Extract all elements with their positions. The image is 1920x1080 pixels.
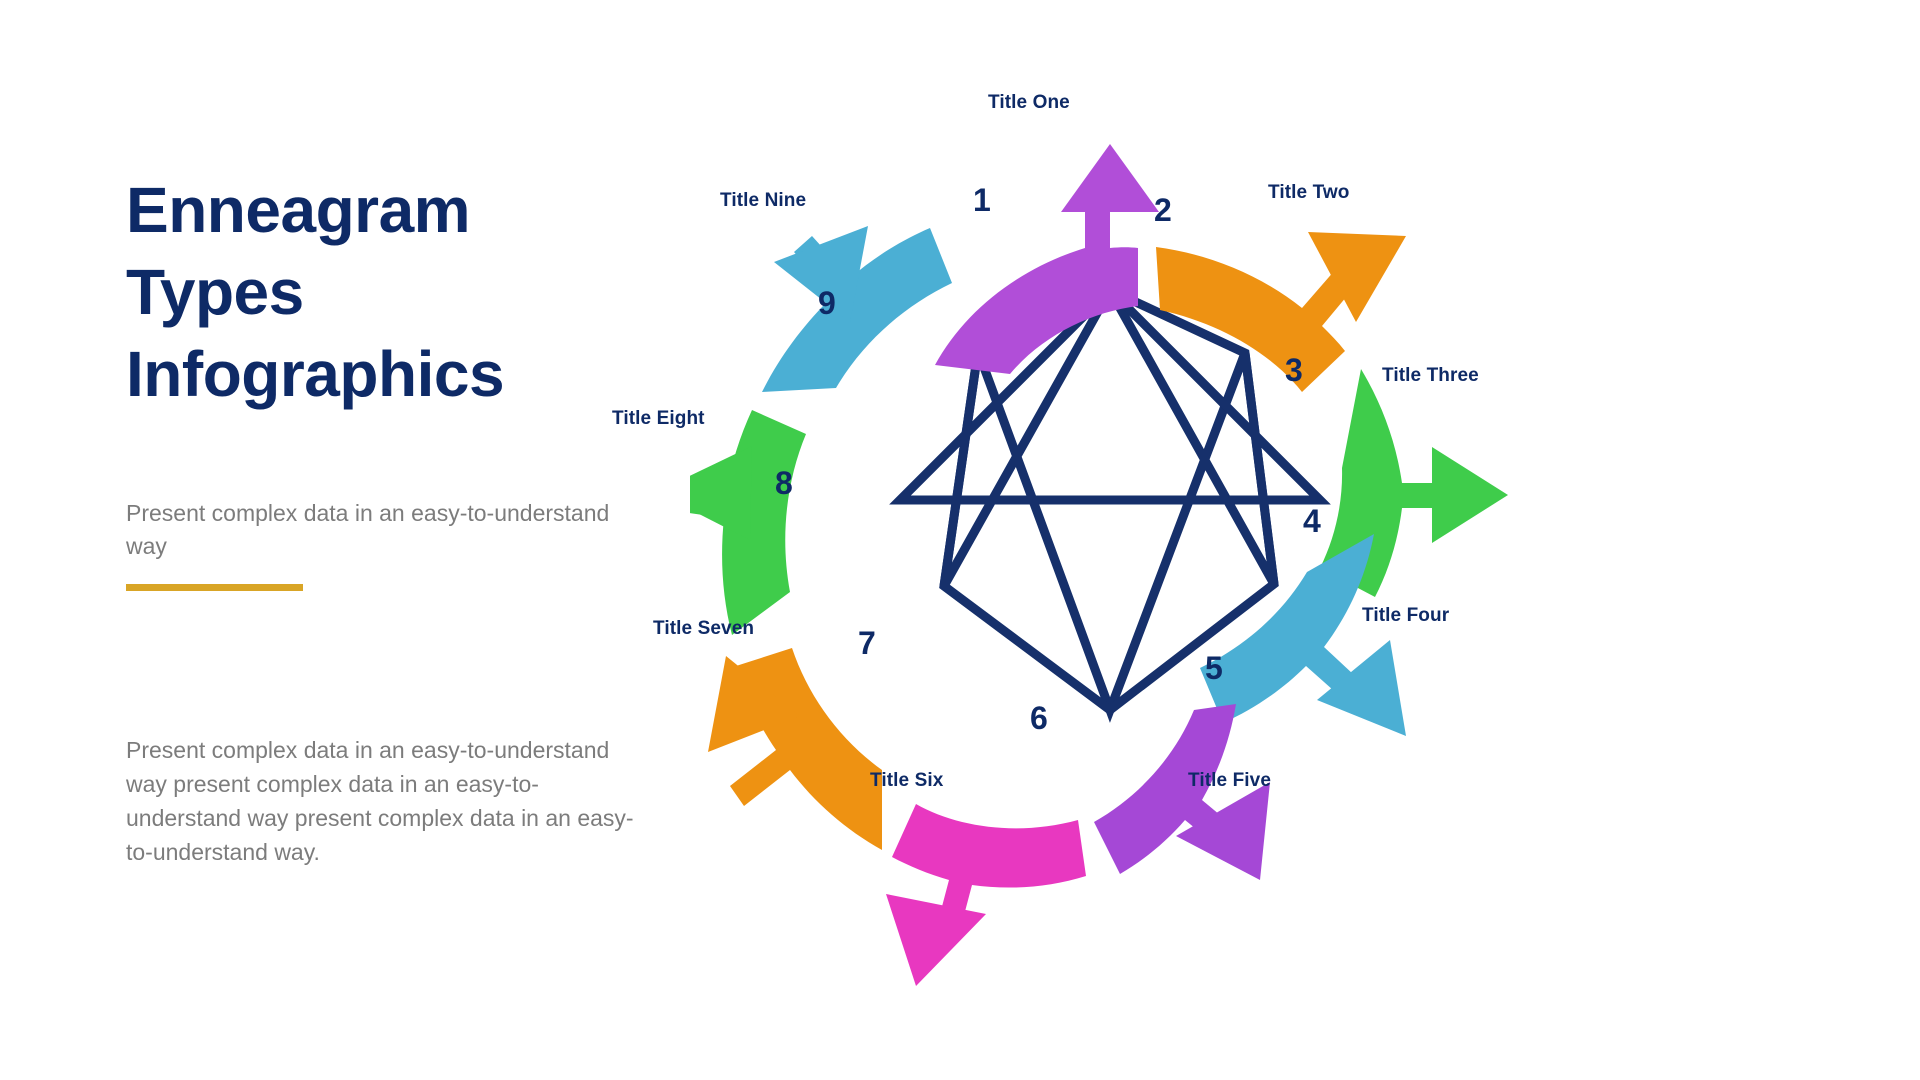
body-paragraph: Present complex data in an easy-to-under… (126, 733, 638, 869)
arrow-segment-9[interactable] (762, 226, 952, 392)
wheel-label-3[interactable]: Title Three (1382, 365, 1479, 387)
title-block: Enneagram Types Infographics (126, 170, 646, 416)
wheel-label-6[interactable]: Title Six (870, 770, 943, 792)
arrow-segment-6[interactable] (886, 804, 1086, 986)
wheel-label-7[interactable]: Title Seven (653, 618, 754, 640)
wheel-number-5: 5 (1205, 650, 1223, 687)
wheel-number-4: 4 (1303, 503, 1321, 540)
wheel-number-1: 1 (973, 182, 991, 219)
wheel-label-1[interactable]: Title One (988, 92, 1070, 114)
slide-canvas: Enneagram Types Infographics Present com… (0, 0, 1920, 1080)
arrow-segment-7[interactable] (708, 648, 882, 850)
arrow-segment-1[interactable] (935, 144, 1159, 374)
accent-divider (126, 584, 303, 591)
wheel-number-2: 2 (1154, 192, 1172, 229)
wheel-number-6: 6 (1030, 700, 1048, 737)
wheel-number-9: 9 (818, 285, 836, 322)
wheel-label-9[interactable]: Title Nine (720, 190, 806, 212)
enneagram-diagram: Title One Title Two Title Three Title Fo… (690, 40, 1870, 1050)
wheel-label-2[interactable]: Title Two (1268, 182, 1349, 204)
wheel-number-3: 3 (1285, 352, 1303, 389)
subtitle-text: Present complex data in an easy-to-under… (126, 497, 636, 562)
wheel-label-5[interactable]: Title Five (1188, 770, 1271, 792)
wheel-label-8[interactable]: Title Eight (612, 408, 705, 430)
wheel-label-4[interactable]: Title Four (1362, 605, 1449, 627)
wheel-number-8: 8 (775, 465, 793, 502)
page-title: Enneagram Types Infographics (126, 170, 646, 416)
wheel-number-7: 7 (858, 625, 876, 662)
arrow-segment-8[interactable] (690, 410, 806, 635)
arrow-segment-5[interactable] (1094, 704, 1270, 880)
